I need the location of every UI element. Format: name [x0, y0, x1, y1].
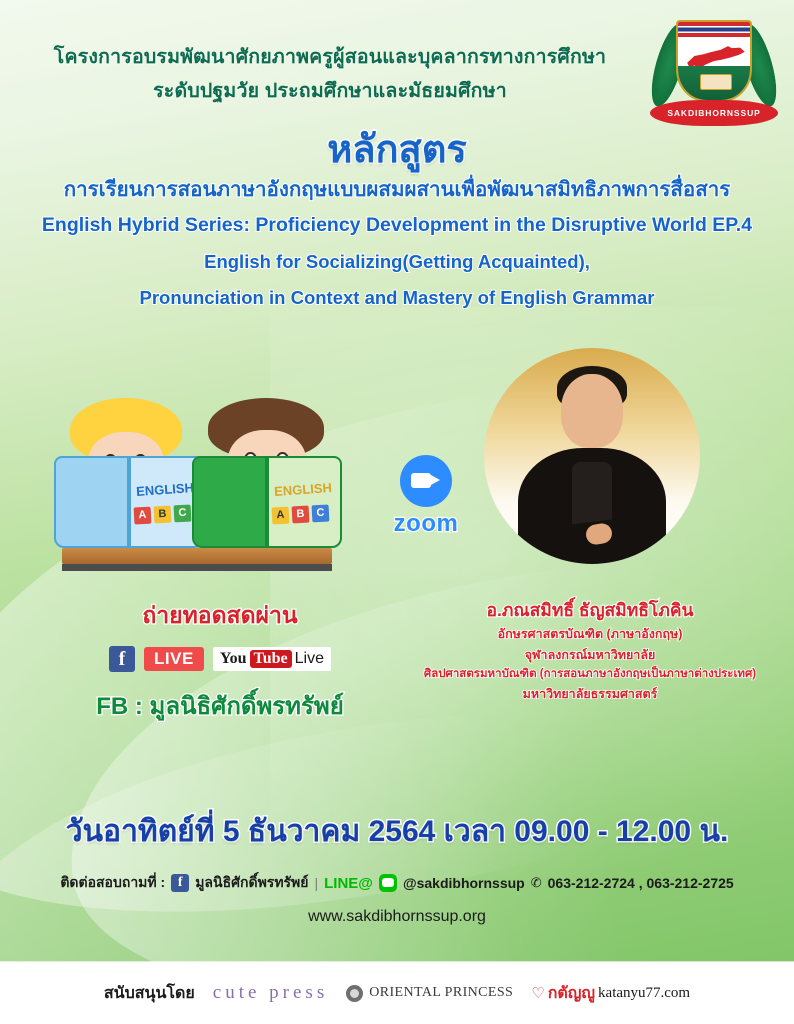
sponsor-row: สนับสนุนโดย cute press ORIENTAL PRINCESS… — [0, 962, 794, 1024]
zoom-logo: zoom — [380, 455, 472, 538]
speaker-university-1: จุฬาลงกรณ์มหาวิทยาลัย — [404, 645, 776, 666]
camera-body — [411, 473, 431, 488]
child-blonde: ENGLISH A B C — [52, 398, 202, 548]
youtube-you-text: You — [220, 650, 247, 668]
abc-letter-a-2: A — [272, 507, 290, 525]
line-id[interactable]: @sakdibhornssup — [403, 875, 525, 891]
crest-banner: SAKDIBHORNSSUP — [650, 100, 778, 126]
abc-letter-b: B — [154, 506, 172, 524]
course-subtitle-thai: การเรียนการสอนภาษาอังกฤษแบบผสมผสานเพื่อพ… — [0, 175, 794, 206]
speaker-university-2: มหาวิทยาลัยธรรมศาสตร์ — [404, 684, 776, 705]
speaker-face — [561, 374, 623, 448]
course-title-en-1: English Hybrid Series: Proficiency Devel… — [0, 206, 794, 244]
blue-book-abc: A B C — [134, 505, 192, 525]
title-block: หลักสูตร การเรียนการสอนภาษาอังกฤษแบบผสมผ… — [0, 128, 794, 316]
facebook-page-name[interactable]: FB : มูลนิธิศักดิ์พรทรัพย์ — [40, 686, 400, 725]
blue-book: ENGLISH A B C — [54, 456, 204, 548]
abc-letter-a: A — [134, 507, 152, 525]
sponsor-katanyu: ♡ กตัญญู katanyu77.com — [531, 981, 690, 1006]
broadcast-badges: f LIVE You Tube Live — [40, 646, 400, 672]
youtube-live-badge[interactable]: You Tube Live — [213, 647, 331, 671]
green-book-left-page — [192, 456, 267, 548]
crest-banner-text: SAKDIBHORNSSUP — [667, 108, 760, 118]
course-heading: หลักสูตร — [0, 128, 794, 173]
contact-separator: | — [315, 875, 319, 891]
line-label: LINE@ — [324, 875, 373, 892]
header-block: โครงการอบรมพัฒนาศักยภาพครูผู้สอนและบุคลา… — [0, 40, 660, 108]
sponsor-label: สนับสนุนโดย — [104, 981, 195, 1006]
facebook-live-badge[interactable]: LIVE — [144, 647, 204, 671]
speaker-degree-1: อักษรศาสตรบัณฑิต (ภาษาอังกฤษ) — [404, 624, 776, 645]
children-reading-illustration: ENGLISH A B C ENGLISH A — [52, 388, 342, 570]
thai-flag-stripes — [678, 22, 750, 37]
oriental-princess-logo-icon — [346, 985, 363, 1002]
speaker-portrait — [484, 348, 700, 564]
contact-phones: 063-212-2724 , 063-212-2725 — [548, 875, 734, 891]
speaker-credentials: อ.ภณสมิทธิ์ ธัญสมิทธิโภคิน อักษรศาสตรบัณ… — [404, 596, 776, 705]
broadcast-title: ถ่ายทอดสดผ่าน — [40, 598, 400, 634]
abc-letter-c: C — [174, 505, 192, 523]
facebook-icon-small[interactable]: f — [171, 874, 189, 892]
contact-facebook-page[interactable]: มูลนิธิศักดิ์พรทรัพย์ — [195, 872, 308, 894]
facebook-icon[interactable]: f — [109, 646, 135, 672]
abc-letter-c-2: C — [312, 505, 330, 523]
sponsor-cute-press: cute press — [213, 982, 328, 1004]
contact-label: ติดต่อสอบถามที่ : — [60, 872, 165, 894]
zoom-video-camera-icon — [400, 455, 452, 507]
broadcast-block: ถ่ายทอดสดผ่าน f LIVE You Tube Live FB : … — [40, 598, 400, 725]
website-url[interactable]: www.sakdibhornssup.org — [0, 908, 794, 926]
blue-book-left-page — [54, 456, 129, 548]
desk-surface — [62, 548, 332, 564]
heart-icon: ♡ — [531, 984, 544, 1002]
background-wave-2 — [42, 517, 794, 1024]
speaker-name: อ.ภณสมิทธิ์ ธัญสมิทธิโภคิน — [404, 596, 776, 624]
shield-icon — [676, 20, 752, 102]
youtube-tube-text: Tube — [250, 650, 292, 668]
green-book: ENGLISH A B C — [192, 456, 342, 548]
speaker-degree-2: ศิลปศาสตรมหาบัณฑิต (การสอนภาษาอังกฤษเป็น… — [404, 665, 776, 684]
green-book-abc: A B C — [272, 505, 330, 525]
zoom-wordmark: zoom — [380, 510, 472, 538]
abc-letter-b-2: B — [292, 506, 310, 524]
sponsor-oriental-princess: ORIENTAL PRINCESS — [346, 985, 513, 1002]
line-icon[interactable] — [379, 874, 397, 892]
katanyu-domain: katanyu77.com — [598, 985, 690, 1002]
green-book-right-page — [267, 456, 342, 548]
katanyu-thai-name: กตัญญู — [548, 981, 595, 1006]
youtube-live-text: Live — [295, 650, 324, 668]
header-line-1: โครงการอบรมพัฒนาศักยภาพครูผู้สอนและบุคลา… — [0, 40, 660, 74]
child-brunette: ENGLISH A B C — [192, 398, 342, 548]
event-dateline: วันอาทิตย์ที่ 5 ธันวาคม 2564 เวลา 09.00 … — [0, 808, 794, 855]
course-title-en-3: Pronunciation in Context and Mastery of … — [0, 280, 794, 316]
phone-icon: ✆ — [531, 875, 542, 891]
oriental-princess-name: ORIENTAL PRINCESS — [369, 985, 513, 1001]
course-title-en-2: English for Socializing(Getting Acquaint… — [0, 244, 794, 280]
contact-row: ติดต่อสอบถามที่ : f มูลนิธิศักดิ์พรทรัพย… — [0, 872, 794, 894]
poster-canvas: โครงการอบรมพัฒนาศักยภาพครูผู้สอนและบุคลา… — [0, 0, 794, 1024]
open-book-icon — [700, 74, 732, 90]
organization-crest-logo: SAKDIBHORNSSUP — [648, 8, 780, 130]
header-line-2: ระดับปฐมวัย ประถมศึกษาและมัธยมศึกษา — [0, 74, 660, 108]
